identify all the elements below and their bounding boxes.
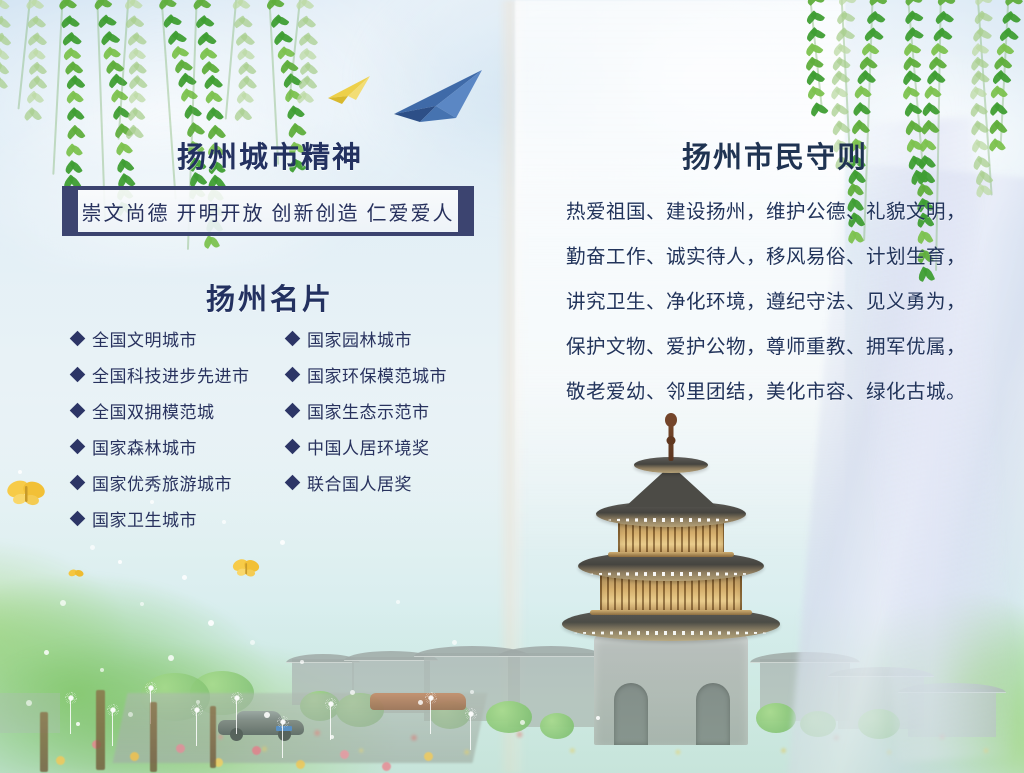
willow-leaf <box>301 91 314 105</box>
willow-leaf <box>71 91 84 105</box>
willow-leaf <box>102 15 117 28</box>
willow-leaf <box>304 62 318 76</box>
willow-leaf <box>108 46 122 59</box>
willow-leaf <box>65 15 79 29</box>
willow-leaf <box>182 72 197 87</box>
willow-leaf <box>0 16 11 30</box>
willow-strand <box>808 0 823 105</box>
diamond-bullet-icon <box>70 438 86 454</box>
diamond-bullet-icon <box>285 402 301 418</box>
willow-leaf <box>907 86 921 99</box>
list-item: 中国人居环境奖 <box>287 428 492 464</box>
willow-leaf <box>874 0 888 6</box>
willow-leaf <box>68 47 81 60</box>
willow-leaf <box>33 48 46 62</box>
rule-line: 热爱祖国、建设扬州，维护公德、礼貌文明， <box>566 190 986 235</box>
list-item-label: 国家森林城市 <box>92 434 197 459</box>
willow-leaf <box>133 61 147 75</box>
willow-leaf <box>32 16 46 30</box>
willow-leaf <box>134 75 148 90</box>
willow-leaf <box>129 0 143 11</box>
willow-leaf <box>237 0 251 11</box>
willow-leaf <box>63 0 77 10</box>
willow-leaf <box>175 46 189 59</box>
list-item-empty <box>287 500 492 536</box>
diamond-bullet-icon <box>70 510 86 526</box>
willow-leaf <box>132 32 147 47</box>
willow-leaf <box>993 139 1006 153</box>
spirit-slogan-text: 崇文尚德 开明开放 创新创造 仁爱爱人 <box>82 197 455 226</box>
banner-left-bar <box>62 186 78 236</box>
willow-leaf <box>208 74 223 89</box>
list-item: 国家森林城市 <box>72 428 287 464</box>
willow-leaf <box>204 47 217 60</box>
willow-leaf <box>239 108 252 123</box>
list-item: 国家环保模范城市 <box>287 356 492 392</box>
willow-leaf <box>33 32 48 47</box>
willow-leaf <box>243 75 257 90</box>
willow-leaf <box>303 32 318 47</box>
cards-heading: 扬州名片 <box>60 276 480 318</box>
willow-leaf <box>172 30 187 44</box>
willow-leaf <box>72 107 86 122</box>
banner-inner: 崇文尚德 开明开放 创新创造 仁爱爱人 <box>78 190 458 232</box>
spirit-slogan-banner: 崇文尚德 开明开放 创新创造 仁爱爱人 <box>62 186 474 236</box>
list-item: 全国科技进步先进市 <box>72 356 287 392</box>
willow-leaf <box>302 16 316 30</box>
willow-leaf <box>133 48 146 62</box>
ground-fade <box>0 603 1024 773</box>
willow-leaf <box>105 31 120 45</box>
willow-leaf <box>1009 0 1023 6</box>
list-item-label: 联合国人居奖 <box>307 470 412 495</box>
rule-line: 勤奋工作、诚实待人，移风易俗、计划生育， <box>566 235 986 280</box>
willow-strand <box>976 0 993 196</box>
willow-leaf <box>304 48 317 62</box>
willow-leaf <box>1001 43 1014 56</box>
citizen-rules-text: 热爱祖国、建设扬州，维护公德、礼貌文明， 勤奋工作、诚实待人，移风易俗、计划生育… <box>566 190 986 415</box>
willow-leaf <box>835 70 850 85</box>
rule-line: 敬老爱幼、邻里团结，美化市容、绿化古城。 <box>566 370 986 415</box>
willow-leaf <box>0 48 10 62</box>
diamond-bullet-icon <box>285 366 301 382</box>
willow-leaf <box>0 75 8 90</box>
willow-leaf <box>211 107 225 121</box>
list-item: 国家优秀旅游城市 <box>72 464 287 500</box>
city-cards-list: 全国文明城市 国家园林城市 全国科技进步先进市 国家环保模范城市 全国双拥模范城… <box>72 320 492 536</box>
willow-leaf <box>202 32 217 47</box>
willow-leaf <box>241 32 256 47</box>
willow-leaf <box>303 75 317 90</box>
list-item: 国家卫生城市 <box>72 500 287 536</box>
willow-leaf <box>241 91 254 105</box>
list-item-label: 全国科技进步先进市 <box>92 362 250 387</box>
willow-leaf <box>0 62 9 77</box>
willow-leaf <box>131 15 145 29</box>
willow-leaf <box>275 14 290 27</box>
list-item-label: 国家优秀旅游城市 <box>92 470 232 495</box>
willow-leaf <box>995 85 1008 99</box>
willow-leaf <box>208 236 220 250</box>
willow-leaf <box>71 75 86 90</box>
willow-leaf <box>31 91 44 105</box>
butterfly-icon-left <box>6 478 46 508</box>
rules-heading: 扬州市民守则 <box>575 134 975 176</box>
list-item: 国家生态示范市 <box>287 392 492 428</box>
willow-leaf <box>0 0 10 11</box>
willow-leaf <box>0 32 12 47</box>
banner-right-bar <box>458 186 474 236</box>
willow-leaf <box>942 0 956 6</box>
diamond-bullet-icon <box>70 330 86 346</box>
diamond-bullet-icon <box>70 474 86 490</box>
willow-leaf <box>200 15 214 29</box>
list-item-label: 全国文明城市 <box>92 326 197 351</box>
diamond-bullet-icon <box>285 438 301 454</box>
willow-strand <box>1000 0 1010 146</box>
willow-leaf <box>33 75 47 90</box>
willow-leaf <box>242 61 256 75</box>
willow-leaf <box>278 31 293 45</box>
diamond-bullet-icon <box>285 474 301 490</box>
list-item-label: 国家园林城市 <box>307 326 412 351</box>
willow-leaf <box>935 43 949 56</box>
list-item: 全国文明城市 <box>72 320 287 356</box>
willow-leaf <box>29 107 42 122</box>
willow-leaf <box>198 0 212 10</box>
rule-line: 保护文物、爱护公物，尊师重教、拥军优属， <box>566 325 986 370</box>
willow-leaf <box>67 32 82 47</box>
poster-canvas: 扬州城市精神 崇文尚德 开明开放 创新创造 仁爱爱人 扬州名片 全国文明城市 国… <box>0 0 1024 773</box>
list-item-label: 国家卫生城市 <box>92 506 197 531</box>
willow-leaf <box>33 61 47 75</box>
list-item: 全国双拥模范城 <box>72 392 287 428</box>
paper-plane-yellow-icon <box>326 74 372 106</box>
paper-plane-blue-icon <box>390 66 486 124</box>
spirit-heading: 扬州城市精神 <box>60 134 480 176</box>
willow-leaf <box>179 59 193 73</box>
diamond-bullet-icon <box>70 366 86 382</box>
willow-leaf <box>31 0 44 11</box>
list-item-label: 中国人居环境奖 <box>307 434 430 459</box>
diamond-bullet-icon <box>70 402 86 418</box>
diamond-bullet-icon <box>285 330 301 346</box>
willow-leaf <box>206 61 220 75</box>
willow-leaf <box>871 11 885 25</box>
list-item-label: 国家环保模范城市 <box>307 362 447 387</box>
willow-leaf <box>940 11 954 25</box>
willow-strand <box>17 0 32 109</box>
willow-leaf <box>1006 11 1020 25</box>
willow-leaf <box>70 61 84 75</box>
butterfly-icon-small <box>68 568 84 581</box>
willow-strand <box>225 0 238 120</box>
willow-leaf <box>301 0 314 11</box>
butterfly-icon-center <box>232 557 260 579</box>
willow-leaf <box>291 105 305 119</box>
list-item: 国家园林城市 <box>287 320 492 356</box>
willow-leaf <box>209 90 222 104</box>
willow-leaf <box>167 14 182 27</box>
list-item-label: 全国双拥模范城 <box>92 398 215 423</box>
list-item: 联合国人居奖 <box>287 464 492 500</box>
willow-leaf <box>242 48 255 62</box>
willow-leaf <box>239 15 253 29</box>
banner-bottom-rule <box>62 232 474 236</box>
rule-line: 讲究卫生、净化环境，遵纪守法、见义勇为， <box>566 280 986 325</box>
willow-leaf <box>132 107 145 122</box>
willow-leaf <box>866 43 879 56</box>
willow-leaf <box>133 91 146 105</box>
list-item-label: 国家生态示范市 <box>307 398 430 423</box>
